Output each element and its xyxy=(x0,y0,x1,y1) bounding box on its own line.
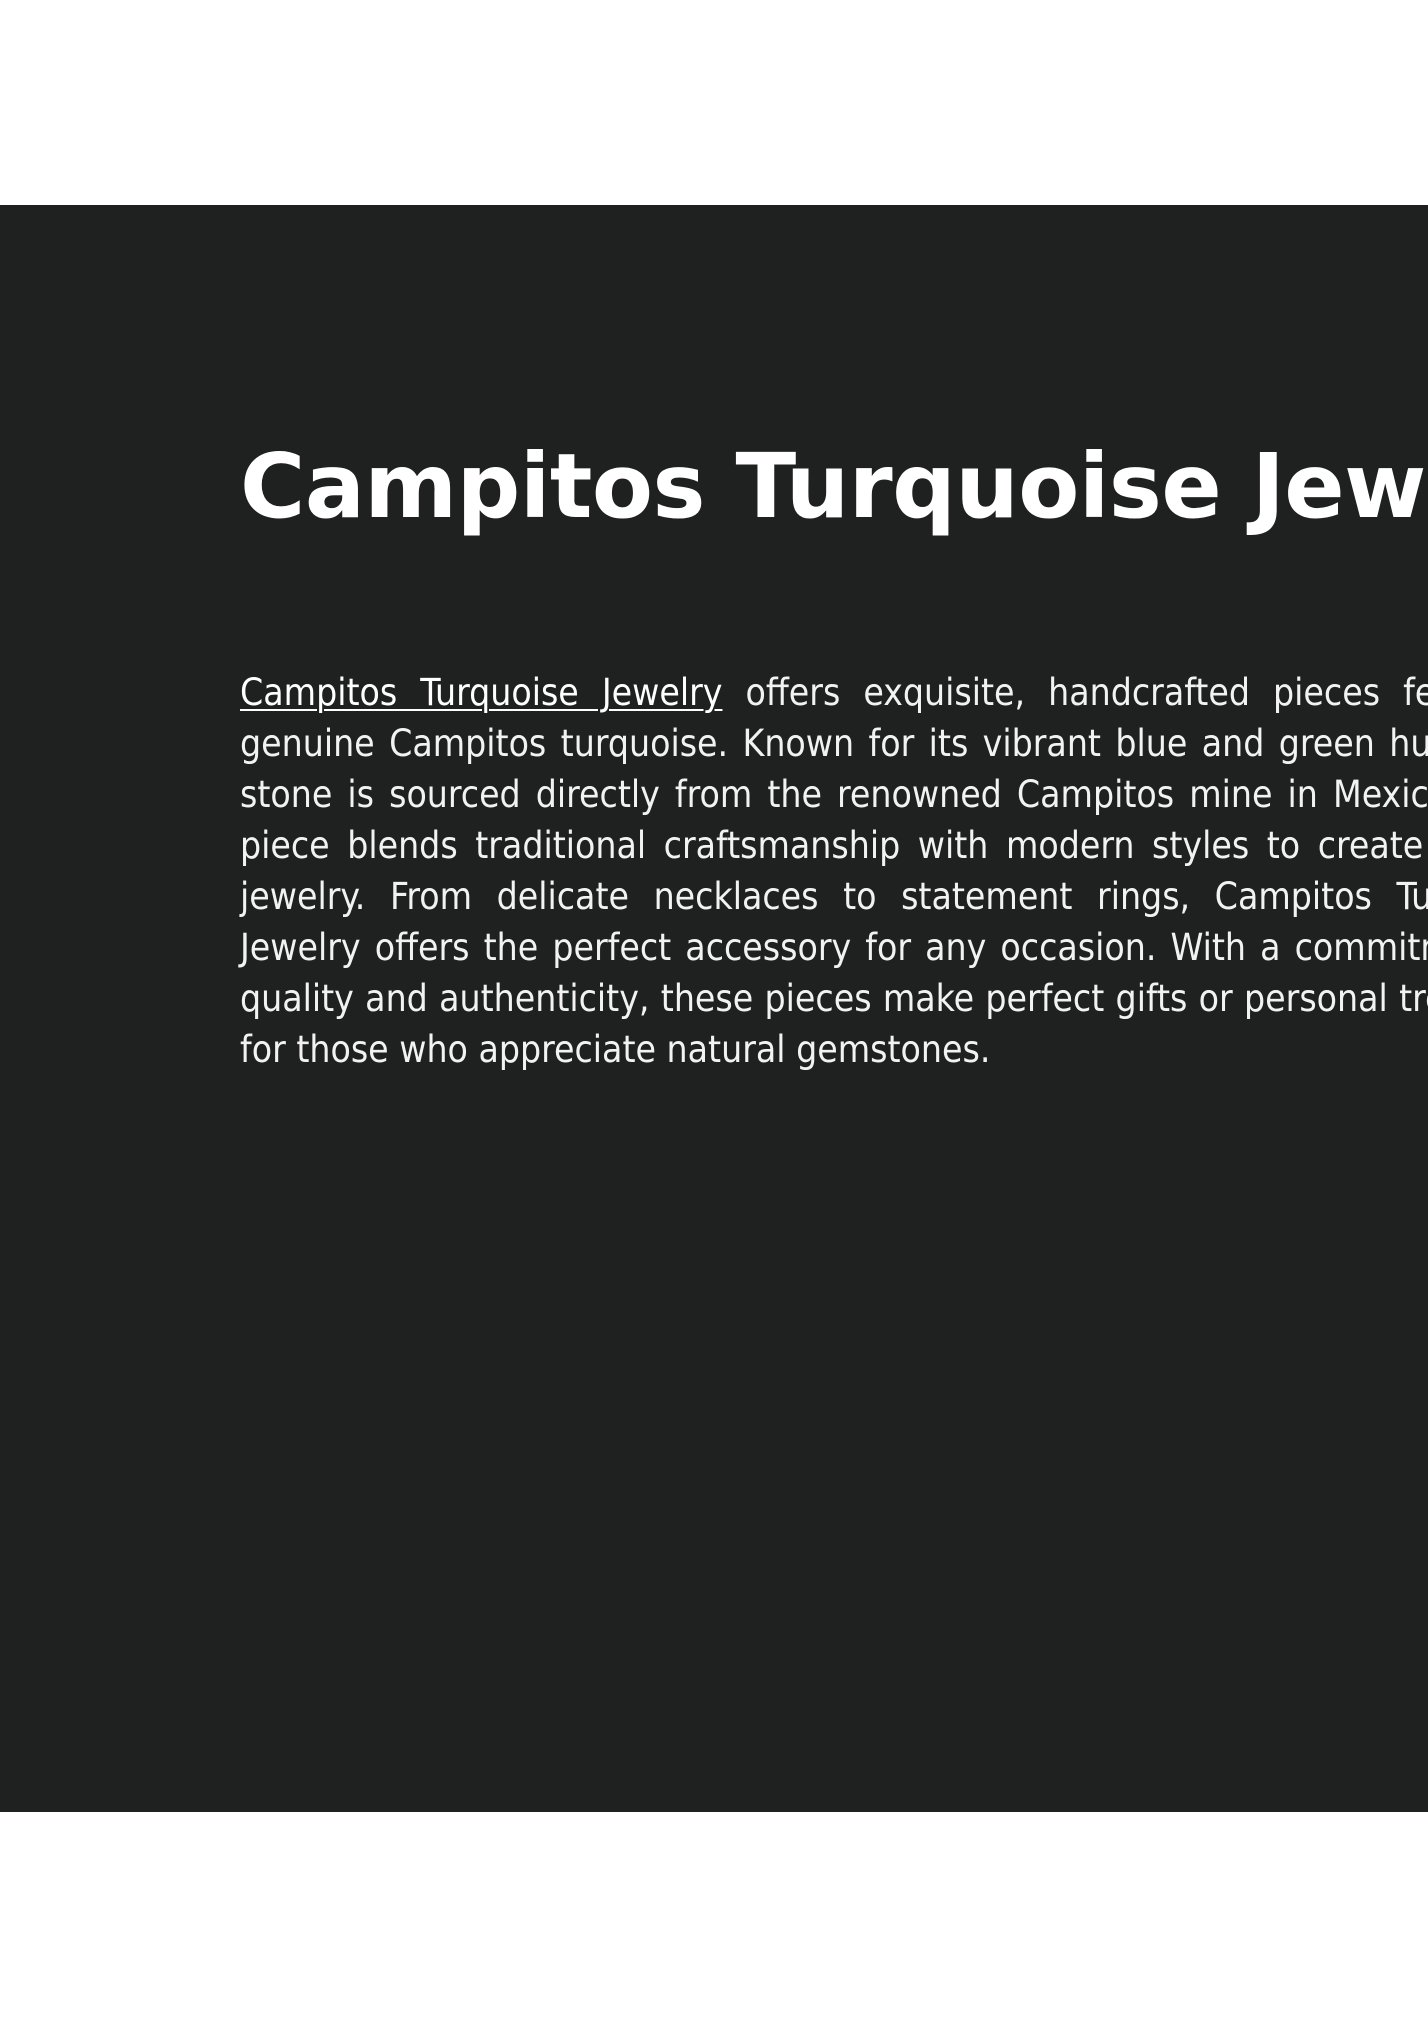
page-root: Campitos Turquoise Jewelry Campitos Turq… xyxy=(0,0,1428,2018)
hero-body-paragraph: Campitos Turquoise Jewelry offers exquis… xyxy=(240,667,1428,1075)
top-white-gutter xyxy=(0,0,1428,205)
hero-content-column: Campitos Turquoise Jewelry Campitos Turq… xyxy=(240,205,1428,1812)
page-title: Campitos Turquoise Jewelry xyxy=(240,438,1428,534)
campitos-turquoise-jewelry-link[interactable]: Campitos Turquoise Jewelry xyxy=(240,671,722,714)
hero-section: Campitos Turquoise Jewelry Campitos Turq… xyxy=(0,205,1428,1812)
bottom-white-gutter xyxy=(0,1812,1428,2018)
hero-body-rest-text: offers exquisite, handcrafted pieces fea… xyxy=(240,671,1428,1071)
